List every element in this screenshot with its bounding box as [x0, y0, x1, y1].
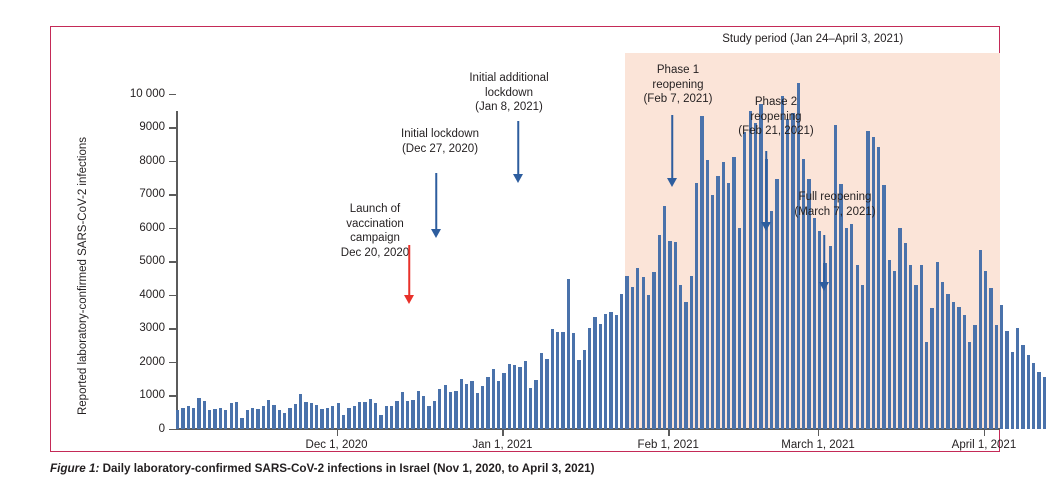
bar [379, 415, 382, 429]
figure-caption: Figure 1: Daily laboratory-confirmed SAR… [50, 462, 595, 475]
bar [262, 406, 265, 429]
bar [593, 317, 596, 429]
y-tick-label: 3000 [139, 322, 165, 334]
bar [444, 385, 447, 429]
bar [438, 389, 441, 429]
bar [856, 265, 859, 429]
bar [588, 328, 591, 429]
x-tick [502, 429, 503, 436]
bar [417, 391, 420, 429]
bar [695, 183, 698, 429]
arrow-head [819, 282, 829, 291]
bar [631, 287, 634, 429]
annotation-arrow-initial-lockdown [431, 173, 441, 238]
bar [898, 228, 901, 429]
bar [786, 119, 789, 429]
y-tick [169, 328, 176, 329]
bar [781, 96, 784, 429]
bar [652, 272, 655, 429]
bar [920, 265, 923, 429]
annotation-label-phase-2-reopening: Phase 2 reopening (Feb 21, 2021) [719, 95, 833, 139]
x-tick [984, 429, 985, 436]
bar [658, 235, 661, 429]
bar [492, 369, 495, 429]
y-tick [169, 127, 176, 128]
bar-series [176, 77, 1000, 429]
bar [968, 342, 971, 429]
y-axis-title: Reported laboratory-confirmed SARS-CoV-2… [77, 126, 89, 426]
annotation-arrow-full-reopening [819, 235, 829, 291]
bar [337, 403, 340, 429]
x-tick-label: Jan 1, 2021 [472, 439, 532, 451]
bar [294, 404, 297, 429]
y-tick-label: 8000 [139, 155, 165, 167]
bar [583, 350, 586, 429]
bar [690, 276, 693, 429]
annotation-label-full-reopening: Full reopening (March 7, 2021) [775, 190, 895, 219]
bar [524, 361, 527, 429]
bar [176, 410, 179, 429]
bar [460, 379, 463, 429]
bar [679, 285, 682, 429]
x-tick-label: March 1, 2021 [781, 439, 855, 451]
bar [192, 408, 195, 429]
bar [866, 131, 869, 429]
y-tick-label: 2000 [139, 356, 165, 368]
y-tick [169, 395, 176, 396]
bar [738, 228, 741, 429]
bar [513, 365, 516, 429]
annotation-arrow-phase-2-reopening [761, 151, 771, 231]
bar [449, 392, 452, 429]
bar [486, 377, 489, 429]
bar [470, 381, 473, 429]
bar [299, 394, 302, 429]
bar [310, 403, 313, 429]
bar [882, 185, 885, 429]
bar [411, 400, 414, 429]
bar [577, 360, 580, 429]
bar [385, 406, 388, 429]
bar [508, 364, 511, 429]
bar [845, 228, 848, 429]
bar [235, 402, 238, 429]
bar [267, 400, 270, 430]
bar [861, 285, 864, 429]
x-tick [818, 429, 819, 436]
y-tick [169, 94, 176, 95]
arrow-shaft [765, 151, 767, 222]
bar [534, 380, 537, 429]
bar [754, 123, 757, 429]
bar [363, 402, 366, 429]
bar [1043, 377, 1046, 429]
figure-frame: Study period (Jan 24–April 3, 2021) Repo… [50, 26, 1000, 452]
bar [674, 242, 677, 429]
bar [904, 243, 907, 429]
bar [219, 408, 222, 429]
bar [353, 406, 356, 429]
y-tick [169, 261, 176, 262]
bar [1016, 328, 1019, 429]
bar [320, 409, 323, 429]
y-tick-label: 6000 [139, 222, 165, 234]
bar [1011, 352, 1014, 429]
bar [925, 342, 928, 429]
arrow-head [761, 222, 771, 231]
study-period-label: Study period (Jan 24–April 3, 2021) [722, 33, 903, 45]
bar [529, 388, 532, 429]
bar [604, 314, 607, 429]
y-tick [169, 295, 176, 296]
bar [989, 288, 992, 429]
bar [813, 218, 816, 429]
bar [224, 410, 227, 429]
bar [326, 408, 329, 429]
bar [979, 250, 982, 429]
bar [518, 367, 521, 429]
bar [433, 401, 436, 429]
bar [251, 408, 254, 429]
bar [684, 302, 687, 429]
y-tick-label: 9000 [139, 121, 165, 133]
bar [454, 391, 457, 429]
bar [941, 282, 944, 430]
bar [888, 260, 891, 429]
bar [278, 410, 281, 429]
bar [599, 324, 602, 429]
bar [839, 184, 842, 429]
bar [609, 312, 612, 429]
bar [502, 373, 505, 429]
bar [743, 132, 746, 429]
bar [615, 315, 618, 429]
bar [1021, 345, 1024, 429]
arrow-shaft [517, 121, 519, 174]
bar [497, 381, 500, 429]
bar [465, 384, 468, 429]
annotation-arrow-vaccination-launch [404, 245, 414, 304]
bar [283, 413, 286, 429]
arrow-shaft [671, 115, 673, 178]
chart-plot-area: Study period (Jan 24–April 3, 2021) Repo… [51, 27, 999, 451]
bar [288, 408, 291, 429]
y-tick [169, 161, 176, 162]
bar [936, 262, 939, 429]
bar [213, 409, 216, 429]
bar [952, 302, 955, 429]
arrow-head [513, 174, 523, 183]
bar [422, 396, 425, 429]
bar [791, 113, 794, 429]
bar [551, 329, 554, 429]
bar [749, 111, 752, 429]
bar [663, 206, 666, 429]
bar [727, 183, 730, 429]
bar [984, 271, 987, 429]
bar [401, 392, 404, 429]
bar [829, 246, 832, 429]
bar [872, 137, 875, 429]
bar [545, 359, 548, 429]
bar [481, 386, 484, 429]
bar [957, 307, 960, 429]
arrow-shaft [408, 245, 410, 295]
annotation-arrow-initial-additional-lockdown [513, 121, 523, 183]
y-tick-label: 0 [159, 423, 165, 435]
bar [540, 353, 543, 429]
bar [995, 325, 998, 429]
bar [711, 195, 714, 429]
bar [625, 276, 628, 429]
bar [722, 162, 725, 429]
bar [240, 418, 243, 429]
y-tick [169, 194, 176, 195]
bar [572, 333, 575, 429]
caption-prefix: Figure 1: [50, 462, 99, 475]
y-tick [169, 228, 176, 229]
x-tick-label: April 1, 2021 [952, 439, 1017, 451]
annotation-label-initial-additional-lockdown: Initial additional lockdown (Jan 8, 2021… [449, 71, 569, 115]
bar [181, 408, 184, 429]
bar [208, 410, 211, 429]
bar [197, 398, 200, 429]
annotation-arrow-phase-1-reopening [667, 115, 677, 187]
bar [668, 241, 671, 429]
bar [395, 401, 398, 429]
bar [561, 332, 564, 429]
arrow-shaft [435, 173, 437, 229]
bar [203, 401, 206, 429]
bar [642, 277, 645, 429]
bar [342, 415, 345, 429]
bar [930, 308, 933, 429]
bar [1027, 355, 1030, 429]
annotation-label-phase-1-reopening: Phase 1 reopening (Feb 7, 2021) [626, 63, 730, 107]
figure-container: Study period (Jan 24–April 3, 2021) Repo… [0, 0, 1048, 499]
bar [973, 325, 976, 429]
bar [963, 315, 966, 429]
bar [636, 268, 639, 429]
bar [647, 295, 650, 429]
y-tick-label: 1000 [139, 389, 165, 401]
bar [406, 401, 409, 429]
x-tick [337, 429, 338, 436]
bar [374, 403, 377, 429]
bar [567, 279, 570, 429]
arrow-shaft [823, 235, 825, 282]
y-tick-label: 7000 [139, 188, 165, 200]
arrow-head [404, 295, 414, 304]
bar [556, 332, 559, 429]
bar [946, 294, 949, 429]
bar [1000, 305, 1003, 429]
bar [770, 211, 773, 429]
bar [369, 399, 372, 430]
bar [1032, 363, 1035, 429]
x-tick [668, 429, 669, 436]
bar [187, 406, 190, 429]
bar [893, 271, 896, 429]
bar [358, 402, 361, 429]
bar [1005, 331, 1008, 429]
bar [1037, 372, 1040, 429]
bar [700, 116, 703, 429]
x-tick-label: Feb 1, 2021 [638, 439, 699, 451]
bar [304, 402, 307, 429]
arrow-head [667, 178, 677, 187]
bar [476, 393, 479, 429]
y-tick-label: 5000 [139, 255, 165, 267]
y-tick-label: 4000 [139, 289, 165, 301]
bar [246, 410, 249, 429]
y-tick [169, 429, 176, 430]
bar [850, 224, 853, 429]
bar [427, 406, 430, 429]
y-tick-label: 10 000 [130, 88, 165, 100]
bar [331, 406, 334, 429]
bar [230, 403, 233, 429]
y-tick [169, 362, 176, 363]
bar [272, 405, 275, 429]
bar [390, 406, 393, 429]
x-tick-label: Dec 1, 2020 [306, 439, 368, 451]
bar [706, 160, 709, 429]
bar [347, 408, 350, 429]
bar [909, 265, 912, 429]
annotation-label-initial-lockdown: Initial lockdown (Dec 27, 2020) [375, 127, 505, 156]
bar [732, 157, 735, 429]
bar [834, 125, 837, 429]
bar [716, 176, 719, 429]
bar [315, 405, 318, 429]
bar [914, 285, 917, 429]
bar [256, 409, 259, 429]
arrow-head [431, 229, 441, 238]
caption-text: Daily laboratory-confirmed SARS-CoV-2 in… [99, 462, 594, 475]
bar [620, 294, 623, 429]
